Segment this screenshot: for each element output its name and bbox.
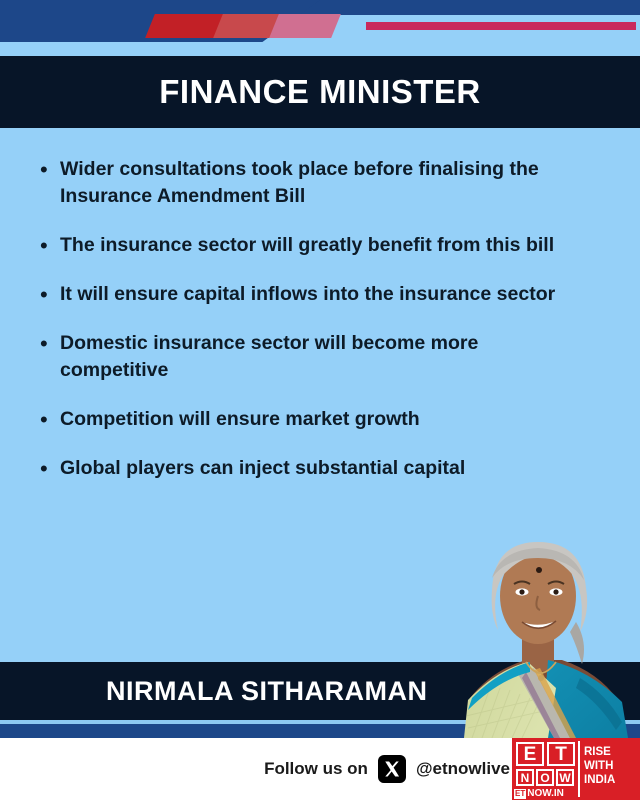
portrait-photo [430,538,640,738]
list-item-text: It will ensure capital inflows into the … [60,281,555,308]
list-item: • Domestic insurance sector will become … [40,330,606,384]
news-graphic-card: FINANCE MINISTER • Wider consultations t… [0,0,640,800]
logo-letter-o: O [536,769,554,786]
person-name: NIRMALA SITHARAMAN [0,676,427,707]
logo-now-row: N O W [516,769,575,786]
bullet-dot-icon: • [40,281,60,308]
logo-domain-prefix: ET [514,789,526,799]
logo-divider [578,741,580,797]
bullet-dot-icon: • [40,232,60,259]
logo-domain: ET NOW.IN [514,789,564,799]
logo-et-row: E T [516,742,575,766]
bullet-dot-icon: • [40,156,60,210]
logo-letter-w: W [556,769,574,786]
x-logo-icon[interactable] [378,755,406,783]
bullet-dot-icon: • [40,455,60,482]
page-title: FINANCE MINISTER [159,73,481,111]
list-item-text: Wider consultations took place before fi… [60,156,590,210]
etnow-logo-mark: E T N O W ET NOW.IN [512,738,578,800]
logo-letter-e: E [516,742,544,766]
logo-domain-rest: NOW.IN [527,789,564,799]
list-item: • Competition will ensure market growth [40,406,606,433]
bullet-dot-icon: • [40,406,60,433]
bullet-dot-icon: • [40,330,60,384]
accent-parallelogram-pink [269,14,341,38]
etnow-logo[interactable]: E T N O W ET NOW.IN RISE WITH INDIA [512,738,640,800]
list-item: • The insurance sector will greatly bene… [40,232,606,259]
logo-tagline: RISE WITH INDIA [578,738,640,800]
list-item-text: Competition will ensure market growth [60,406,420,433]
social-handle[interactable]: @etnowlive [416,759,510,779]
list-item-text: Domestic insurance sector will become mo… [60,330,590,384]
list-item: • Global players can inject substantial … [40,455,606,482]
footer-bar: Follow us on @etnowlive E T N O W [0,738,640,800]
list-item-text: The insurance sector will greatly benefi… [60,232,554,259]
list-item: • It will ensure capital inflows into th… [40,281,606,308]
accent-pink-rule [366,22,636,30]
bullet-list: • Wider consultations took place before … [0,128,640,504]
follow-label: Follow us on [264,759,368,779]
logo-tagline-line-3: INDIA [584,773,640,787]
logo-letter-n: N [516,769,534,786]
list-item: • Wider consultations took place before … [40,156,606,210]
list-item-text: Global players can inject substantial ca… [60,455,465,482]
logo-tagline-line-1: RISE [584,745,640,759]
accent-parallelogram-red [145,14,225,38]
top-decorative-band [0,0,640,56]
social-follow-group: Follow us on @etnowlive [264,738,510,800]
logo-letter-t: T [547,742,575,766]
logo-tagline-line-2: WITH [584,759,640,773]
header-bar: FINANCE MINISTER [0,56,640,128]
